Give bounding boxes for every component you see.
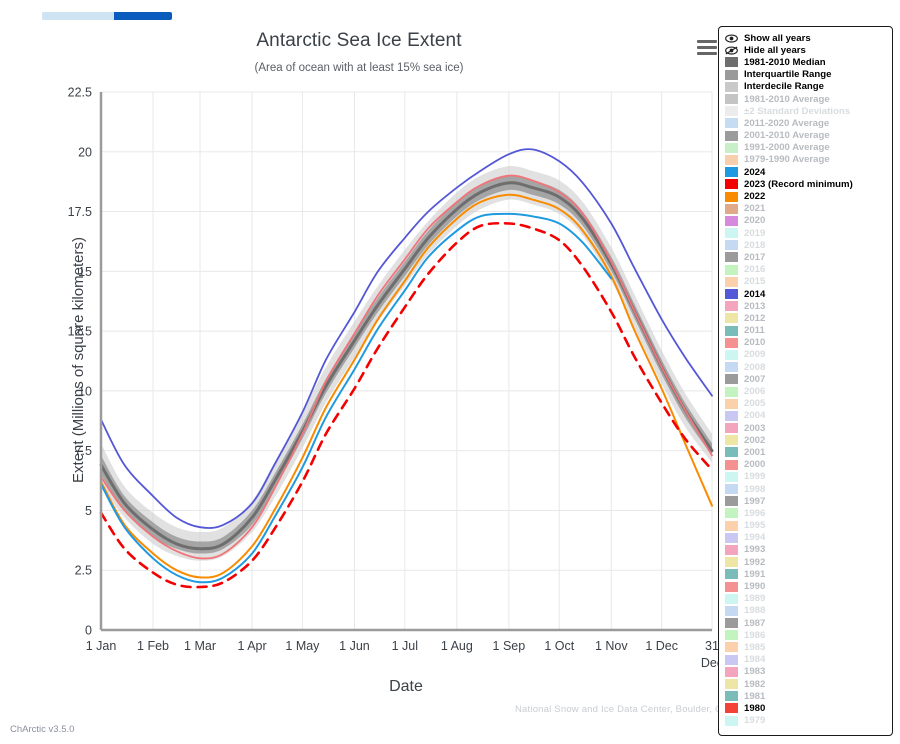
legend-color-swatch bbox=[725, 582, 738, 592]
legend-item-label: 2016 bbox=[744, 264, 765, 275]
x-tick-label: 1 Jul bbox=[392, 639, 418, 653]
y-tick-label: 20 bbox=[78, 145, 92, 159]
legend-item-2004[interactable]: 2004 bbox=[725, 410, 888, 422]
legend-item-2001-2010-average[interactable]: 2001-2010 Average bbox=[725, 130, 888, 142]
legend-item-2001[interactable]: 2001 bbox=[725, 446, 888, 458]
legend-item-1995[interactable]: 1995 bbox=[725, 520, 888, 532]
legend-item-1998[interactable]: 1998 bbox=[725, 483, 888, 495]
legend-item-label: ±2 Standard Deviations bbox=[744, 106, 850, 117]
legend-item-2011-2020-average[interactable]: 2011-2020 Average bbox=[725, 117, 888, 129]
y-tick-label: 5 bbox=[85, 504, 92, 518]
legend-item-label: 2022 bbox=[744, 191, 765, 202]
legend-item-label: 2001 bbox=[744, 447, 765, 458]
legend-color-swatch bbox=[725, 155, 738, 165]
legend-color-swatch bbox=[725, 204, 738, 214]
legend-item-label: 1981 bbox=[744, 691, 765, 702]
legend-controls: Show all yearsHide all years bbox=[725, 32, 888, 56]
legend-color-swatch bbox=[725, 82, 738, 92]
legend-item-2000[interactable]: 2000 bbox=[725, 459, 888, 471]
app-version-label: ChArctic v3.5.0 bbox=[10, 724, 74, 735]
legend-color-swatch bbox=[725, 679, 738, 689]
x-tick-label: 1 Apr bbox=[237, 639, 266, 653]
legend-color-swatch bbox=[725, 350, 738, 360]
legend-item-label: 1996 bbox=[744, 508, 765, 519]
data-source-credit: National Snow and Ice Data Center, Bould… bbox=[515, 704, 730, 715]
legend-color-swatch bbox=[725, 143, 738, 153]
legend-item-label: 2006 bbox=[744, 386, 765, 397]
legend-color-swatch bbox=[725, 435, 738, 445]
legend-item-1983[interactable]: 1983 bbox=[725, 666, 888, 678]
legend-color-swatch bbox=[725, 399, 738, 409]
legend-item-label: 2013 bbox=[744, 301, 765, 312]
legend-item-1990[interactable]: 1990 bbox=[725, 580, 888, 592]
legend-item-1986[interactable]: 1986 bbox=[725, 629, 888, 641]
legend-item-label: 2004 bbox=[744, 410, 765, 421]
legend-item-1994[interactable]: 1994 bbox=[725, 532, 888, 544]
legend-item-1996[interactable]: 1996 bbox=[725, 507, 888, 519]
legend-color-swatch bbox=[725, 301, 738, 311]
legend-item-label: 1994 bbox=[744, 532, 765, 543]
legend-color-swatch bbox=[725, 569, 738, 579]
legend-item-2011[interactable]: 2011 bbox=[725, 325, 888, 337]
legend-item-label: 1986 bbox=[744, 630, 765, 641]
legend-item-1993[interactable]: 1993 bbox=[725, 544, 888, 556]
line-2014 bbox=[101, 149, 712, 528]
y-tick-label: 2.5 bbox=[75, 564, 92, 578]
legend-color-swatch bbox=[725, 447, 738, 457]
legend-color-swatch bbox=[725, 57, 738, 67]
legend-color-swatch bbox=[725, 265, 738, 275]
legend-item-label: 2021 bbox=[744, 203, 765, 214]
legend-item-label: 2011-2020 Average bbox=[744, 118, 829, 129]
legend-color-swatch bbox=[725, 496, 738, 506]
legend-color-swatch bbox=[725, 533, 738, 543]
x-tick-label: 1 Oct bbox=[544, 639, 574, 653]
legend-item-2023-record-minimum[interactable]: 2023 (Record minimum) bbox=[725, 178, 888, 190]
legend-item-label: 1991 bbox=[744, 569, 765, 580]
legend-item-label: 2000 bbox=[744, 459, 765, 470]
legend-control-label: Show all years bbox=[744, 33, 811, 44]
legend-color-swatch bbox=[725, 642, 738, 652]
x-tick-label: 1 Sep bbox=[493, 639, 526, 653]
legend-item-label: 1990 bbox=[744, 581, 765, 592]
legend-color-swatch bbox=[725, 289, 738, 299]
legend-color-swatch bbox=[725, 508, 738, 518]
legend-color-swatch bbox=[725, 326, 738, 336]
legend-item-label: 2005 bbox=[744, 398, 765, 409]
legend-item-1991-2000-average[interactable]: 1991-2000 Average bbox=[725, 142, 888, 154]
legend-item-2016[interactable]: 2016 bbox=[725, 264, 888, 276]
y-tick-label: 0 bbox=[85, 624, 92, 638]
legend-item-2024[interactable]: 2024 bbox=[725, 166, 888, 178]
legend-color-swatch bbox=[725, 313, 738, 323]
legend-item-label: 1984 bbox=[744, 654, 765, 665]
legend-item-1984[interactable]: 1984 bbox=[725, 654, 888, 666]
legend-item-2013[interactable]: 2013 bbox=[725, 300, 888, 312]
legend-item-2-standard-deviations[interactable]: ±2 Standard Deviations bbox=[725, 105, 888, 117]
legend-item-1979-1990-average[interactable]: 1979-1990 Average bbox=[725, 154, 888, 166]
legend-item-label: 2007 bbox=[744, 374, 765, 385]
legend-item-label: 2010 bbox=[744, 337, 765, 348]
legend-item-label: 1995 bbox=[744, 520, 765, 531]
legend-color-swatch bbox=[725, 655, 738, 665]
legend-item-label: 1979-1990 Average bbox=[744, 154, 830, 165]
legend-item-label: 1997 bbox=[744, 496, 765, 507]
legend-control-label: Hide all years bbox=[744, 45, 806, 56]
legend-item-2006[interactable]: 2006 bbox=[725, 385, 888, 397]
legend-color-swatch bbox=[725, 216, 738, 226]
eye-slash-icon bbox=[725, 45, 738, 55]
legend-item-2022[interactable]: 2022 bbox=[725, 190, 888, 202]
legend-item-1981[interactable]: 1981 bbox=[725, 690, 888, 702]
legend-item-2010[interactable]: 2010 bbox=[725, 337, 888, 349]
legend-item-1997[interactable]: 1997 bbox=[725, 495, 888, 507]
legend-item-label: 1993 bbox=[744, 544, 765, 555]
legend-color-swatch bbox=[725, 703, 738, 713]
legend-color-swatch bbox=[725, 667, 738, 677]
legend-item-label: 2019 bbox=[744, 228, 765, 239]
x-tick-label: 1 May bbox=[285, 639, 320, 653]
legend-item-label: 2015 bbox=[744, 276, 765, 287]
legend-color-swatch bbox=[725, 70, 738, 80]
legend-color-swatch bbox=[725, 716, 738, 726]
legend-item-2019[interactable]: 2019 bbox=[725, 227, 888, 239]
legend-control-hide-all[interactable]: Hide all years bbox=[725, 44, 888, 56]
legend-color-swatch bbox=[725, 521, 738, 531]
legend-item-label: 1992 bbox=[744, 557, 765, 568]
legend-item-label: 2001-2010 Average bbox=[744, 130, 830, 141]
legend-item-1987[interactable]: 1987 bbox=[725, 617, 888, 629]
legend-item-label: 1979 bbox=[744, 715, 765, 726]
legend-control-show-all[interactable]: Show all years bbox=[725, 32, 888, 44]
legend-color-swatch bbox=[725, 691, 738, 701]
legend-item-2018[interactable]: 2018 bbox=[725, 239, 888, 251]
legend-color-swatch bbox=[725, 594, 738, 604]
legend-color-swatch bbox=[725, 545, 738, 555]
legend-color-swatch bbox=[725, 338, 738, 348]
x-tick-label: 1 Mar bbox=[184, 639, 216, 653]
legend-item-2005[interactable]: 2005 bbox=[725, 398, 888, 410]
legend-item-label: 1991-2000 Average bbox=[744, 142, 830, 153]
legend-item-2014[interactable]: 2014 bbox=[725, 288, 888, 300]
band-interdecile-range bbox=[101, 166, 712, 561]
legend-color-swatch bbox=[725, 106, 738, 116]
legend-item-label: 2024 bbox=[744, 167, 765, 178]
legend-color-swatch bbox=[725, 411, 738, 421]
line-1981-2010-median bbox=[101, 183, 712, 549]
legend-item-label: 1983 bbox=[744, 666, 765, 677]
legend-color-swatch bbox=[725, 460, 738, 470]
legend-color-swatch bbox=[725, 484, 738, 494]
eye-icon bbox=[725, 33, 738, 43]
legend-color-swatch bbox=[725, 118, 738, 128]
legend-color-swatch bbox=[725, 240, 738, 250]
y-tick-label: 10 bbox=[78, 384, 92, 398]
legend-color-swatch bbox=[725, 277, 738, 287]
legend-color-swatch bbox=[725, 192, 738, 202]
legend-item-label: 2002 bbox=[744, 435, 765, 446]
legend-color-swatch bbox=[725, 179, 738, 189]
x-tick-label: 1 Nov bbox=[595, 639, 628, 653]
legend-item-label: 1980 bbox=[744, 703, 765, 714]
legend-item-1999[interactable]: 1999 bbox=[725, 471, 888, 483]
x-tick-label: 1 Aug bbox=[441, 639, 473, 653]
y-tick-label: 15 bbox=[78, 265, 92, 279]
legend-item-label: 1981-2010 Average bbox=[744, 94, 830, 105]
x-tick-labels: 1 Jan1 Feb1 Mar1 Apr1 May1 Jun1 Jul1 Aug… bbox=[86, 639, 723, 670]
legend-item-label: 1982 bbox=[744, 679, 765, 690]
legend-color-swatch bbox=[725, 557, 738, 567]
y-tick-label: 22.5 bbox=[68, 86, 92, 100]
legend-item-2002[interactable]: 2002 bbox=[725, 434, 888, 446]
legend-item-label: 2008 bbox=[744, 362, 765, 373]
legend-color-swatch bbox=[725, 94, 738, 104]
legend-color-swatch bbox=[725, 252, 738, 262]
legend-item-1981-2010-average[interactable]: 1981-2010 Average bbox=[725, 93, 888, 105]
range-bands bbox=[101, 166, 712, 561]
legend-item-label: Interquartile Range bbox=[744, 69, 831, 80]
line-1980 bbox=[101, 176, 712, 559]
legend-item-interdecile-range[interactable]: Interdecile Range bbox=[725, 81, 888, 93]
legend-color-swatch bbox=[725, 167, 738, 177]
legend-item-interquartile-range[interactable]: Interquartile Range bbox=[725, 69, 888, 81]
line-2024 bbox=[101, 214, 611, 582]
legend-item-1982[interactable]: 1982 bbox=[725, 678, 888, 690]
legend-entries: 1981-2010 MedianInterquartile RangeInter… bbox=[725, 56, 888, 726]
legend-item-2008[interactable]: 2008 bbox=[725, 361, 888, 373]
y-tick-label: 17.5 bbox=[68, 205, 92, 219]
legend-item-label: 1981-2010 Median bbox=[744, 57, 826, 68]
legend-item-2009[interactable]: 2009 bbox=[725, 349, 888, 361]
legend-color-swatch bbox=[725, 387, 738, 397]
legend-item-label: 2014 bbox=[744, 289, 765, 300]
legend-item-1991[interactable]: 1991 bbox=[725, 568, 888, 580]
legend-item-label: 1999 bbox=[744, 471, 765, 482]
legend-item-label: 1989 bbox=[744, 593, 765, 604]
x-tick-label: 1 Feb bbox=[137, 639, 169, 653]
legend-item-2007[interactable]: 2007 bbox=[725, 373, 888, 385]
legend-item-label: 2011 bbox=[744, 325, 765, 336]
legend-item-label: 2009 bbox=[744, 349, 765, 360]
y-tick-label: 7.5 bbox=[75, 444, 92, 458]
legend-color-swatch bbox=[725, 228, 738, 238]
legend-color-swatch bbox=[725, 362, 738, 372]
legend-color-swatch bbox=[725, 131, 738, 141]
legend-item-2021[interactable]: 2021 bbox=[725, 203, 888, 215]
legend-item-label: 2017 bbox=[744, 252, 765, 263]
legend-item-2003[interactable]: 2003 bbox=[725, 422, 888, 434]
band-interquartile-range bbox=[101, 176, 712, 554]
legend-item-2017[interactable]: 2017 bbox=[725, 251, 888, 263]
legend-item-1985[interactable]: 1985 bbox=[725, 641, 888, 653]
legend-item-1988[interactable]: 1988 bbox=[725, 605, 888, 617]
x-tick-label: 31 bbox=[705, 639, 719, 653]
legend-item-1989[interactable]: 1989 bbox=[725, 593, 888, 605]
legend-item-label: 2003 bbox=[744, 423, 765, 434]
legend-panel[interactable]: Show all yearsHide all years 1981-2010 M… bbox=[718, 26, 893, 736]
legend-item-1992[interactable]: 1992 bbox=[725, 556, 888, 568]
legend-color-swatch bbox=[725, 618, 738, 628]
legend-color-swatch bbox=[725, 606, 738, 616]
legend-item-label: 1988 bbox=[744, 605, 765, 616]
legend-item-2020[interactable]: 2020 bbox=[725, 215, 888, 227]
legend-item-label: 1987 bbox=[744, 618, 765, 629]
legend-item-label: 2023 (Record minimum) bbox=[744, 179, 853, 190]
data-lines bbox=[101, 149, 712, 587]
legend-item-label: 2018 bbox=[744, 240, 765, 251]
legend-color-swatch bbox=[725, 374, 738, 384]
legend-item-2015[interactable]: 2015 bbox=[725, 276, 888, 288]
legend-item-label: 1998 bbox=[744, 484, 765, 495]
legend-color-swatch bbox=[725, 472, 738, 482]
legend-item-1981-2010-median[interactable]: 1981-2010 Median bbox=[725, 56, 888, 68]
legend-item-label: 2012 bbox=[744, 313, 765, 324]
legend-color-swatch bbox=[725, 423, 738, 433]
legend-item-2012[interactable]: 2012 bbox=[725, 312, 888, 324]
y-tick-label: 12.5 bbox=[68, 325, 92, 339]
legend-item-label: 2020 bbox=[744, 215, 765, 226]
legend-color-swatch bbox=[725, 630, 738, 640]
y-tick-labels: 02.557.51012.51517.52022.5 bbox=[68, 86, 92, 638]
legend-item-1980[interactable]: 1980 bbox=[725, 702, 888, 714]
legend-item-label: 1985 bbox=[744, 642, 765, 653]
legend-item-label: Interdecile Range bbox=[744, 81, 824, 92]
x-tick-label: 1 Jan bbox=[86, 639, 117, 653]
x-tick-label: 1 Dec bbox=[645, 639, 678, 653]
legend-item-1979[interactable]: 1979 bbox=[725, 715, 888, 727]
x-tick-label: 1 Jun bbox=[339, 639, 370, 653]
